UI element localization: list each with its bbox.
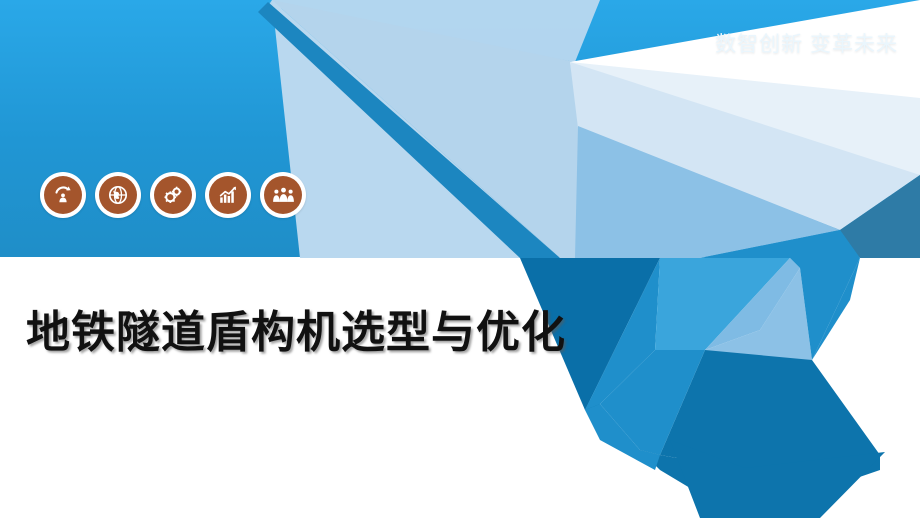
icon-badge-people-group[interactable] — [260, 172, 306, 218]
globe-icon — [99, 176, 137, 214]
icon-badge-bar-chart-growth[interactable] — [205, 172, 251, 218]
recycle-person-icon — [44, 176, 82, 214]
icon-badge-globe[interactable] — [95, 172, 141, 218]
icon-row — [40, 172, 306, 218]
presentation-title-slide: 数智创新 变革未来 — [0, 0, 920, 518]
icon-badge-gears[interactable] — [150, 172, 196, 218]
slide-tagline: 数智创新 变革未来 — [715, 28, 898, 58]
icon-badge-recycle-person[interactable] — [40, 172, 86, 218]
bar-chart-growth-icon — [209, 176, 247, 214]
gears-icon — [154, 176, 192, 214]
page-title: 地铁隧道盾构机选型与优化 — [26, 296, 566, 360]
people-group-icon — [264, 176, 302, 214]
polygon-decoration-graphic — [0, 0, 920, 518]
